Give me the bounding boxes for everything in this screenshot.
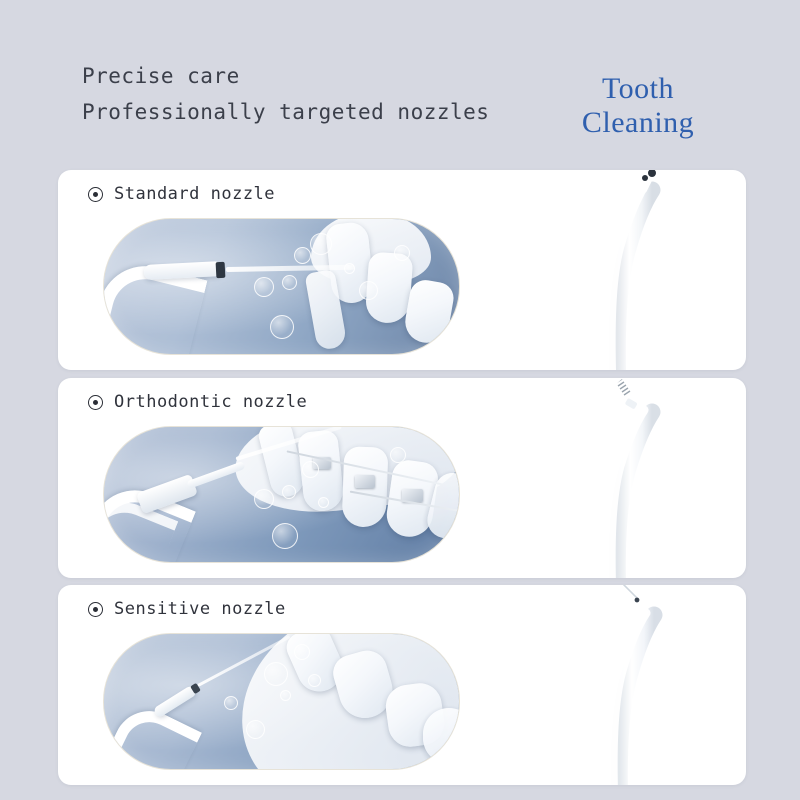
water-bubble [344,263,355,274]
brace-bracket-icon [355,475,375,488]
brand-title: Tooth Cleaning [528,72,748,140]
brush-bristles [616,379,630,395]
water-bubble [254,277,274,297]
water-bubble [270,315,294,339]
water-bubble [302,461,319,478]
water-bubble [246,720,265,739]
water-bubble [272,523,298,549]
water-bubble [254,489,274,509]
water-bubble [282,275,297,290]
water-bubble [294,644,310,660]
water-bubble [394,245,410,261]
card-clip: Orthodontic nozzle [58,378,746,578]
water-bubble [318,497,329,508]
card-label-text: Standard nozzle [114,184,275,204]
card-label-text: Sensitive nozzle [114,599,286,619]
water-bubble [224,696,238,710]
product-image-standard-nozzle [544,170,694,370]
card-clip: Sensitive nozzle [58,585,746,785]
water-bubble [359,281,378,300]
card-label-standard: Standard nozzle [88,184,275,204]
nozzle-card-orthodontic[interactable]: Orthodontic nozzle [58,378,746,578]
nozzle-card-sensitive[interactable]: Sensitive nozzle [58,585,746,785]
water-bubble [282,485,296,499]
headline-block: Precise care Professionally targeted noz… [82,58,552,130]
poster-canvas: Precise care Professionally targeted noz… [0,0,800,800]
headline-line-2: Professionally targeted nozzles [82,94,552,130]
water-bubble [390,447,406,463]
water-bubble [280,690,291,701]
headline-line-1: Precise care [82,58,552,94]
brand-title-line-1: Tooth [528,72,748,106]
product-image-sensitive-nozzle [550,585,700,785]
illustration-standard [103,218,460,355]
card-clip: Standard nozzle [58,170,746,370]
double-circle-bullet-icon [88,395,103,410]
double-circle-bullet-icon [88,187,103,202]
illustration-sensitive [103,633,460,770]
brand-title-line-2: Cleaning [528,106,748,140]
water-bubble [264,662,288,686]
nozzle-tip-illustration [216,262,226,278]
nozzle-card-standard[interactable]: Standard nozzle [58,170,746,370]
water-bubble [308,674,321,687]
product-image-orthodontic-nozzle [548,378,698,578]
water-bubble [294,247,311,264]
card-label-orthodontic: Orthodontic nozzle [88,392,307,412]
card-label-text: Orthodontic nozzle [114,392,307,412]
illustration-orthodontic [103,426,460,563]
double-circle-bullet-icon [88,602,103,617]
water-bubble [310,233,332,255]
card-label-sensitive: Sensitive nozzle [88,599,286,619]
